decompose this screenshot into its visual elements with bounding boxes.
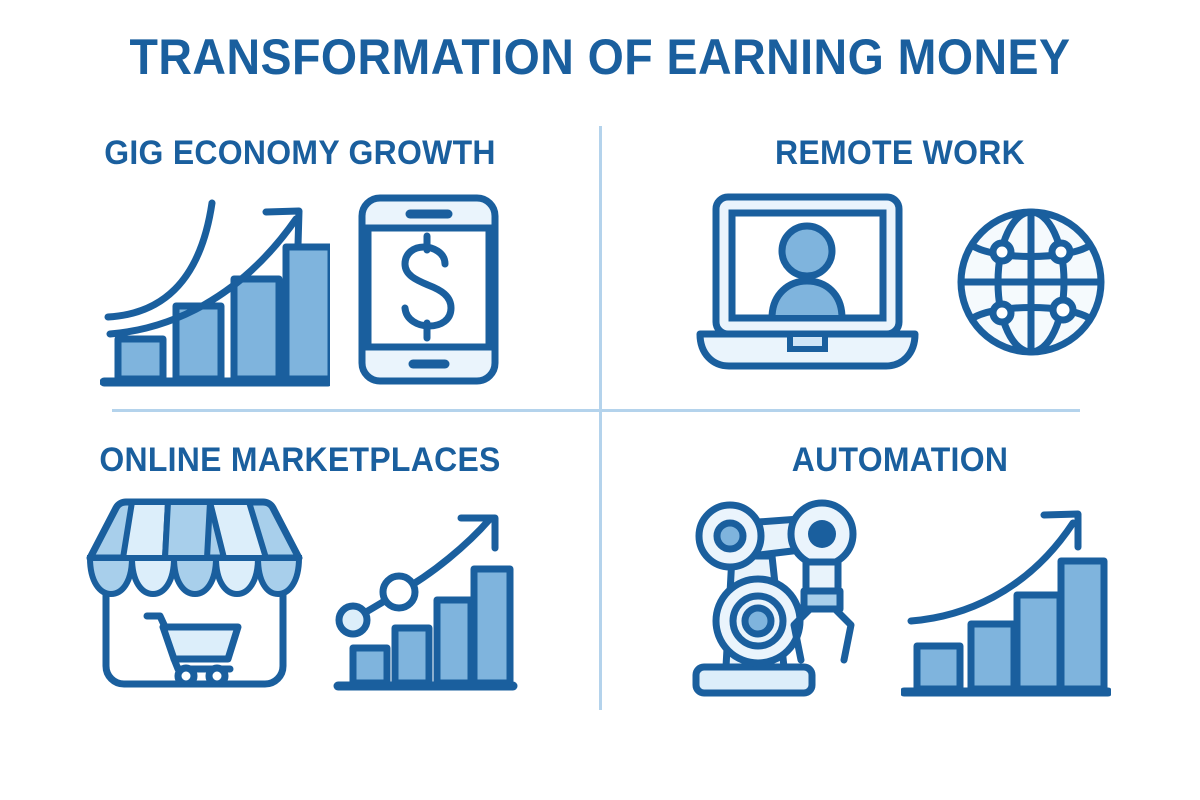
section-title-gig-economy-growth: GIG ECONOMY GROWTH <box>18 134 582 173</box>
smartphone-dollar-icon <box>356 192 501 387</box>
icon-row-automation <box>600 496 1200 701</box>
icon-row-remote-work <box>600 189 1200 374</box>
quadrant-gig-economy-growth: GIG ECONOMY GROWTH <box>0 118 600 418</box>
growth-bar-chart-icon <box>901 499 1111 699</box>
section-title-automation: AUTOMATION <box>618 441 1182 480</box>
storefront-cart-icon <box>82 496 307 691</box>
icon-row-online-marketplaces <box>0 496 600 691</box>
quadrant-remote-work: REMOTE WORK <box>600 118 1200 418</box>
robotic-arm-icon <box>690 496 875 701</box>
globe-network-icon <box>951 202 1111 362</box>
quadrant-automation: AUTOMATION <box>600 425 1200 725</box>
line-bar-chart-icon <box>333 496 518 691</box>
laptop-video-call-icon <box>690 189 925 374</box>
quadrant-online-marketplaces: ONLINE MARKETPLACES <box>0 425 600 725</box>
page-title: TRANSFORMATION OF EARNING MONEY <box>42 28 1158 86</box>
icon-row-gig-economy-growth <box>0 189 600 389</box>
growth-bar-chart-icon <box>100 189 330 389</box>
infographic-canvas: TRANSFORMATION OF EARNING MONEY GIG ECON… <box>0 0 1200 800</box>
section-title-online-marketplaces: ONLINE MARKETPLACES <box>18 441 582 480</box>
section-title-remote-work: REMOTE WORK <box>618 134 1182 173</box>
